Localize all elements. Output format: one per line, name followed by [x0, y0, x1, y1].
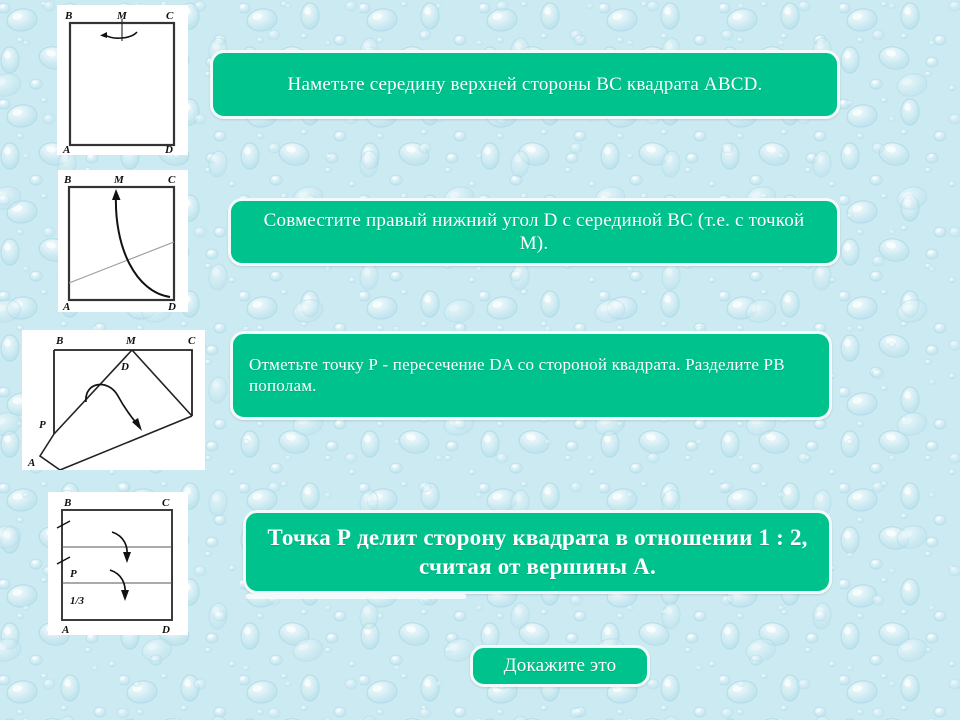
callout-step-3[interactable]: Отметьте точку Р - пересечение DA со сто… [230, 331, 832, 420]
callout-step-2-text: Совместите правый нижний угол D с середи… [231, 209, 837, 255]
figure-2-label-B: B [63, 174, 71, 186]
figure-4-thirds: B C P 1/3 A D [48, 492, 188, 635]
figure-4-label-D: D [161, 624, 170, 635]
figure-1-label-B: B [64, 10, 72, 22]
callout-step-3-text: Отметьте точку Р - пересечение DA со сто… [233, 355, 829, 396]
figure-3-label-P: P [39, 419, 46, 431]
prove-it-button-label: Докажите это [473, 654, 647, 677]
figure-1-label-C: C [166, 10, 174, 22]
figure-2-label-C: C [168, 174, 176, 186]
figure-2-label-A: A [62, 301, 70, 312]
figure-2-label-M: M [113, 174, 125, 186]
figure-4-label-B: B [63, 497, 71, 509]
figure-4-label-one-third: 1/3 [70, 595, 85, 607]
figure-3-label-D: D [120, 361, 129, 373]
callout-step-1-text: Наметьте середину верхней стороны ВС ква… [213, 73, 837, 96]
conclusion-shadow-ledge [246, 594, 466, 599]
callout-conclusion[interactable]: Точка Р делит сторону квадрата в отношен… [243, 510, 832, 594]
figure-1-square-midpoint: B M C A D [57, 5, 188, 155]
figure-2-label-D: D [167, 301, 176, 312]
figure-4-label-P: P [70, 568, 77, 580]
callout-step-2[interactable]: Совместите правый нижний угол D с середи… [228, 198, 840, 266]
figure-3-label-C: C [188, 335, 196, 347]
figure-4-label-A: A [61, 624, 69, 635]
figure-1-label-D: D [164, 144, 173, 155]
prove-it-button[interactable]: Докажите это [470, 645, 650, 687]
slide-canvas: B M C A D B M C A D [0, 0, 960, 720]
figure-1-label-A: A [62, 144, 70, 155]
figure-3-label-M: M [125, 335, 137, 347]
callout-step-1[interactable]: Наметьте середину верхней стороны ВС ква… [210, 50, 840, 119]
figure-3-folded-point-P: B M C D P A [22, 330, 205, 470]
figure-3-label-A: A [27, 457, 35, 469]
figure-3-label-B: B [55, 335, 63, 347]
figure-2-fold-D-to-M: B M C A D [58, 170, 188, 312]
callout-conclusion-text: Точка Р делит сторону квадрата в отношен… [246, 523, 829, 582]
figure-4-label-C: C [162, 497, 170, 509]
